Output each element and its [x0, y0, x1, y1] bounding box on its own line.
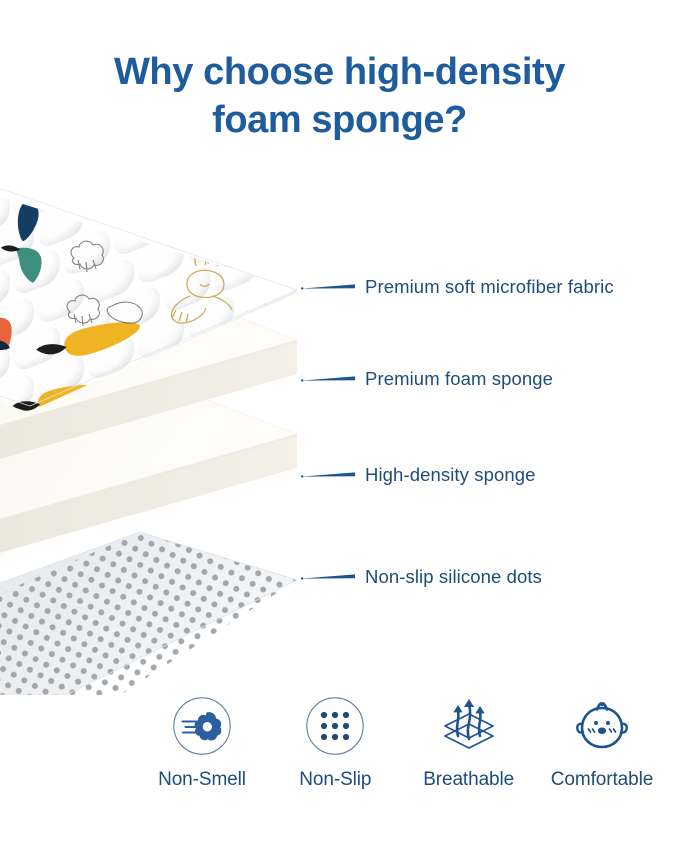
callout-non-slip-silicone-dots: Non-slip silicone dots [301, 564, 542, 590]
leader-line-icon [301, 570, 357, 584]
feature-label: Non-Slip [299, 769, 371, 791]
callout-high-density-sponge: High-density sponge [301, 462, 536, 488]
feature-non-slip: Non-Slip [271, 695, 399, 791]
callout-label: Non-slip silicone dots [365, 564, 542, 590]
page-title: Why choose high-density foam sponge? [0, 48, 679, 144]
feature-label: Non-Smell [158, 769, 246, 791]
feature-comfortable: Comfortable [538, 695, 666, 791]
layer-silicone-backing [0, 520, 340, 695]
leader-line-icon [301, 468, 357, 482]
leader-line-icon [301, 372, 357, 386]
feature-row: Non-Smell Non-Slip [138, 695, 666, 791]
feature-label: Breathable [423, 769, 514, 791]
baby-face-icon [571, 695, 633, 757]
feature-non-smell: Non-Smell [138, 695, 266, 791]
odor-waves-icon [171, 695, 233, 757]
callout-premium-foam-sponge: Premium foam sponge [301, 366, 553, 392]
leader-line-icon [301, 280, 357, 294]
product-infographic: Why choose high-density foam sponge? [0, 0, 679, 849]
callout-label: Premium soft microfiber fabric [365, 274, 614, 300]
feature-label: Comfortable [551, 769, 653, 791]
airflow-layers-icon [438, 695, 500, 757]
feature-breathable: Breathable [405, 695, 533, 791]
dot-grid-icon [304, 695, 366, 757]
mattress-layers-illustration [0, 150, 340, 695]
callout-label: High-density sponge [365, 462, 536, 488]
callout-premium-soft-microfiber-fabric: Premium soft microfiber fabric [301, 274, 614, 300]
callout-label: Premium foam sponge [365, 366, 553, 392]
